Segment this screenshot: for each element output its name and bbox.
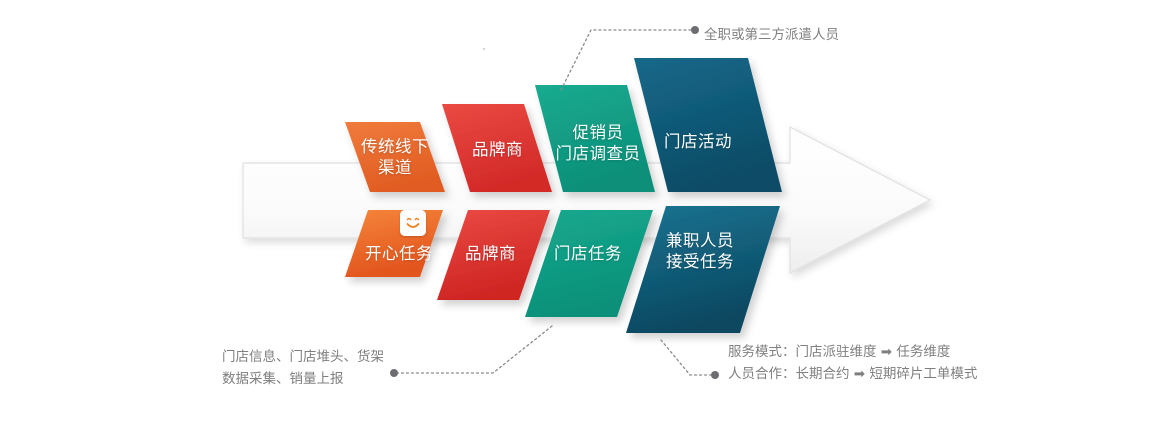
annotation-staffing: 全职或第三方派遣人员 [704,24,839,46]
connector-dot-bottom-left [390,369,398,377]
smiley-face-icon [400,210,426,236]
diagram-svg [0,0,1150,430]
annotation-service-model-line-1: 服务模式：门店派驻维度 ➡ 任务维度 [728,341,977,363]
diagram-canvas: 传统线下 渠道 品牌商 促销员 门店调查员 门店活动 开心任务 品牌商 门店任务… [0,0,1150,430]
top-row-shapes [345,58,782,192]
annotation-service-model-line-2: 人员合作：长期合约 ➡ 短期碎片工单模式 [728,363,977,385]
annotation-staffing-line-1: 全职或第三方派遣人员 [704,24,839,46]
smiley-face-glyph [400,210,426,236]
annotation-store-data: 门店信息、门店堆头、货架 数据采集、销量上报 [222,346,384,390]
connector-bottom-right [661,340,712,375]
annotation-service-model: 服务模式：门店派驻维度 ➡ 任务维度 人员合作：长期合约 ➡ 短期碎片工单模式 [728,341,977,385]
annotation-store-data-line-2: 数据采集、销量上报 [222,368,384,390]
speck-artifact [483,48,485,50]
connector-bottom-left [398,326,552,373]
connector-dot-bottom-right [711,371,719,379]
annotation-store-data-line-1: 门店信息、门店堆头、货架 [222,346,384,368]
connector-dot-top-right [691,26,699,34]
